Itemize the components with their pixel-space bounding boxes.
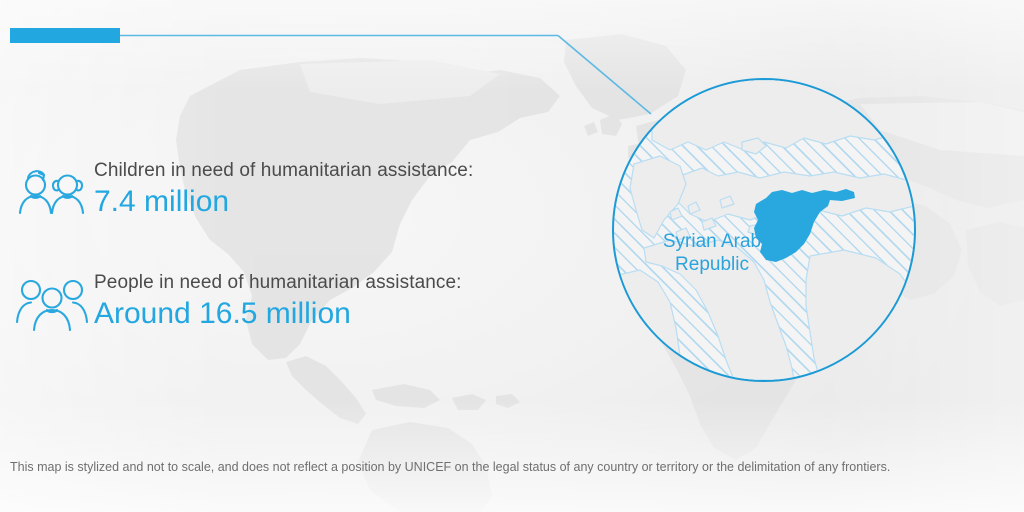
regional-map	[614, 80, 914, 380]
stat-label: People in need of humanitarian assistanc…	[94, 272, 462, 294]
infographic-canvas: Children in need of humanitarian assista…	[0, 0, 1024, 512]
three-people-icon	[14, 276, 90, 339]
magnifier-circle: Syrian Arab Republic	[612, 78, 916, 382]
stat-label: Children in need of humanitarian assista…	[94, 160, 473, 182]
top-highlight-bar	[10, 28, 120, 43]
stat-value: 7.4 million	[94, 184, 473, 220]
stat-children: Children in need of humanitarian assista…	[14, 160, 473, 227]
disclaimer-text: This map is stylized and not to scale, a…	[10, 458, 1010, 477]
stat-people: People in need of humanitarian assistanc…	[14, 272, 462, 339]
stat-value: Around 16.5 million	[94, 296, 462, 332]
two-children-icon	[14, 164, 90, 227]
